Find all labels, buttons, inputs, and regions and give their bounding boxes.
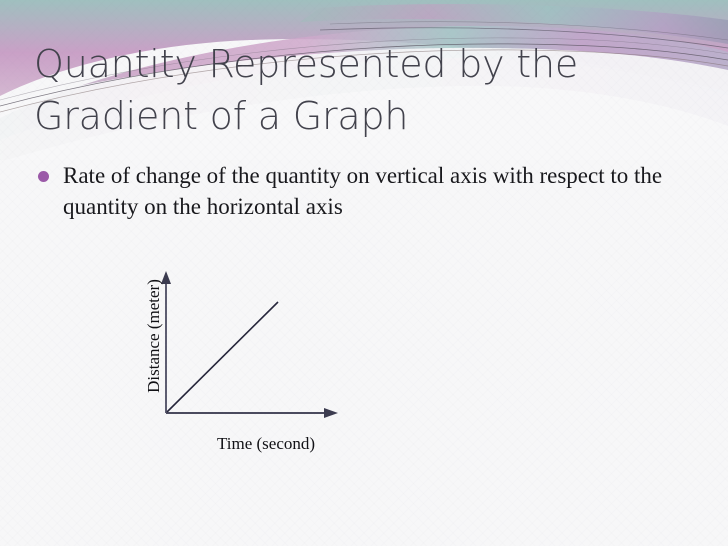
page-title: Quantity Represented by the Gradient of …: [34, 38, 684, 142]
slide-canvas: Quantity Represented by the Gradient of …: [0, 0, 728, 546]
x-axis-arrowhead-icon: [324, 408, 338, 418]
distance-time-graph: Distance (meter) Time (second): [110, 258, 370, 468]
title-line-1: Quantity Represented by the: [34, 38, 684, 90]
bullet-text: Rate of change of the quantity on vertic…: [63, 160, 663, 222]
bullet-dot-icon: [38, 171, 49, 182]
body-content: Rate of change of the quantity on vertic…: [38, 160, 678, 222]
data-line-distance-vs-time: [167, 302, 278, 412]
x-axis-label: Time (second): [166, 434, 366, 454]
y-axis-label: Distance (meter): [144, 256, 164, 416]
title-line-2: Gradient of a Graph: [34, 90, 684, 142]
list-item: Rate of change of the quantity on vertic…: [38, 160, 678, 222]
